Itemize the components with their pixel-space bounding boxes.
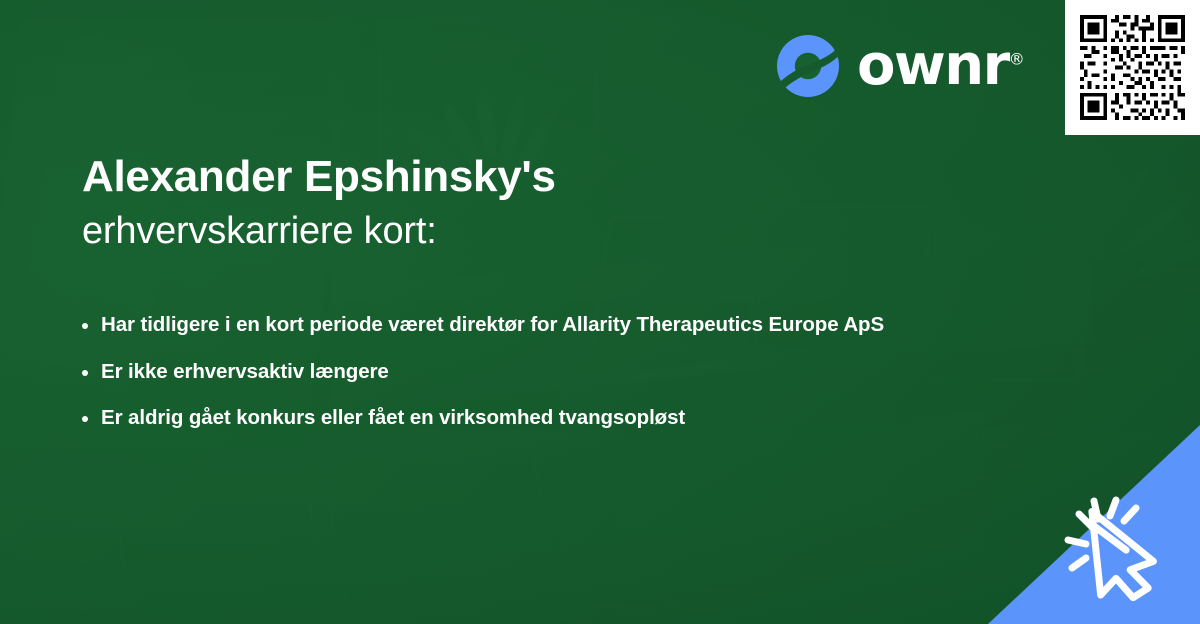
list-item: Er ikke erhvervsaktiv længere — [82, 362, 1142, 383]
registered-mark: ® — [1009, 49, 1025, 68]
career-facts-list: Har tidligere i en kort periode været di… — [82, 315, 1142, 455]
list-item-label: Er aldrig gået konkurs eller fået en vir… — [101, 406, 685, 429]
list-item: Har tidligere i en kort periode været di… — [82, 315, 1142, 336]
promo-card: ownr® — [0, 0, 1200, 624]
ownr-circle-mark — [775, 33, 841, 99]
list-item: Er aldrig gået konkurs eller fået en vir… — [82, 408, 1142, 429]
ownr-wordmark: ownr® — [857, 38, 1025, 94]
bullet-dot-icon — [82, 370, 88, 376]
bullet-dot-icon — [82, 416, 88, 422]
ownr-logo[interactable]: ownr® — [775, 33, 1025, 99]
page-title: Alexander Epshinsky's — [82, 152, 982, 203]
wordmark-text: ownr — [857, 33, 1009, 98]
qr-code-image — [1076, 11, 1189, 124]
headline-block: Alexander Epshinsky's erhvervskarriere k… — [82, 152, 982, 254]
qr-code[interactable] — [1065, 0, 1200, 135]
list-item-label: Er ikke erhvervsaktiv længere — [101, 360, 389, 383]
list-item-label: Har tidligere i en kort periode været di… — [101, 313, 884, 336]
page-subtitle: erhvervskarriere kort: — [82, 209, 982, 255]
bullet-dot-icon — [82, 323, 88, 329]
